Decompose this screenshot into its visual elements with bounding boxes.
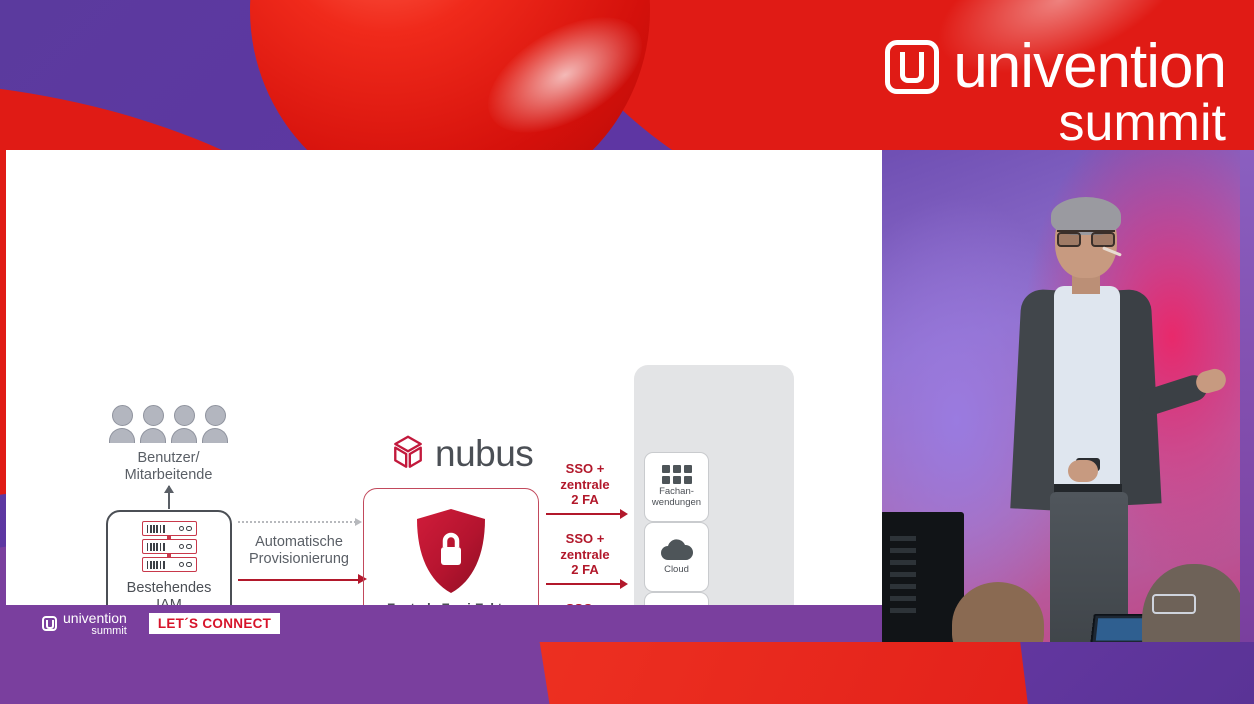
- app-grid-icon: [662, 465, 692, 484]
- users-label: Benutzer/ Mitarbeitende: [106, 450, 231, 484]
- arrow-right-icon: [546, 583, 622, 586]
- sso-connector-1: SSO + zentrale 2 FA: [546, 461, 624, 515]
- app-card-fachanwendungen: Fachan- wendungen: [644, 452, 709, 522]
- provisioning-label: Automatische Provisionierung: [238, 534, 360, 569]
- sso-connector-2: SSO + zentrale 2 FA: [546, 531, 624, 585]
- slide-area: Benutzer/ Mitarbeitende: [6, 150, 882, 642]
- footer-logo: univention summit: [42, 611, 127, 637]
- univention-u-mark-icon: [885, 40, 939, 94]
- people-group-icon: [106, 405, 231, 443]
- speaker-figure: [1010, 202, 1160, 642]
- footer-logo-word: univention: [63, 611, 127, 625]
- server-stack-icon: [142, 521, 197, 572]
- slide-footer-bar: univention summit LET´S CONNECT: [6, 605, 882, 642]
- shield-lock-icon: [415, 507, 487, 595]
- event-logo-word: univention: [953, 38, 1226, 95]
- arrow-up-icon: [168, 486, 170, 509]
- app-card-cloud: Cloud: [644, 522, 709, 592]
- speaker-video-panel: [882, 150, 1254, 642]
- footer-logo-sub: summit: [63, 626, 127, 637]
- arrow-right-icon: [238, 579, 360, 582]
- nubus-cube-icon: [386, 434, 430, 474]
- arrow-right-icon: [546, 513, 622, 516]
- users-group: Benutzer/ Mitarbeitende: [106, 405, 231, 484]
- dotted-arrow-right-icon: [238, 521, 360, 523]
- univention-u-mark-icon: [42, 616, 57, 631]
- provisioning-connector: Automatische Provisionierung: [238, 515, 360, 581]
- app-label: Fachan- wendungen: [652, 487, 701, 508]
- slide-diagram: Benutzer/ Mitarbeitende: [6, 150, 882, 642]
- speaker-shirt: [1054, 286, 1120, 486]
- speaker-hand-left: [1068, 460, 1098, 482]
- nubus-wordmark: nubus: [435, 433, 533, 475]
- event-logo-sub: summit: [1058, 97, 1226, 149]
- lets-connect-badge: LET´S CONNECT: [149, 613, 280, 634]
- nubus-logo: nubus: [386, 433, 533, 475]
- app-label: Cloud: [664, 565, 689, 576]
- cloud-icon: [660, 538, 694, 562]
- glasses-icon: [1057, 230, 1115, 245]
- event-logo: univention summit: [885, 38, 1226, 149]
- presentation-screenshot: univention summit Benutzer/ Mitarbeitend…: [0, 0, 1254, 704]
- stage-right-strip: [1240, 150, 1254, 642]
